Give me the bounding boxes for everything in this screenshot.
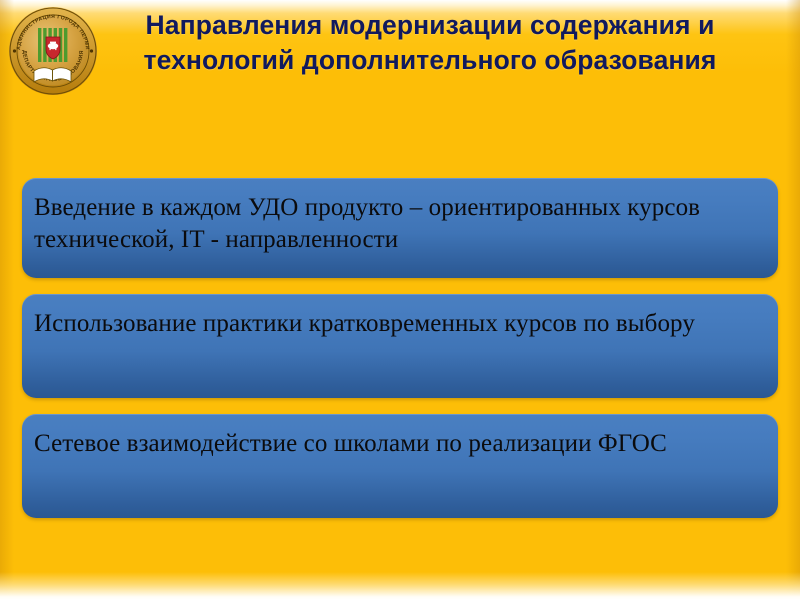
slide-canvas: АДМИНИСТРАЦИЯ ГОРОДА ПЕРМИ ДЕПАРТАМЕНТ О… <box>0 0 800 600</box>
slide-header: АДМИНИСТРАЦИЯ ГОРОДА ПЕРМИ ДЕПАРТАМЕНТ О… <box>0 0 800 132</box>
slide-background-bottom-gradient <box>0 572 800 600</box>
content-box-1-text: Введение в каждом УДО продукто – ориенти… <box>34 192 764 256</box>
content-box-3[interactable]: Сетевое взаимодействие со школами по реа… <box>22 414 778 518</box>
content-box-2-text: Использование практики кратковременных к… <box>34 308 764 340</box>
content-box-2[interactable]: Использование практики кратковременных к… <box>22 294 778 398</box>
content-box-1[interactable]: Введение в каждом УДО продукто – ориенти… <box>22 178 778 278</box>
content-box-3-text: Сетевое взаимодействие со школами по реа… <box>34 428 764 460</box>
department-of-education-emblem-icon: АДМИНИСТРАЦИЯ ГОРОДА ПЕРМИ ДЕПАРТАМЕНТ О… <box>8 6 98 96</box>
page-title: Направления модернизации содержания и те… <box>100 8 760 78</box>
